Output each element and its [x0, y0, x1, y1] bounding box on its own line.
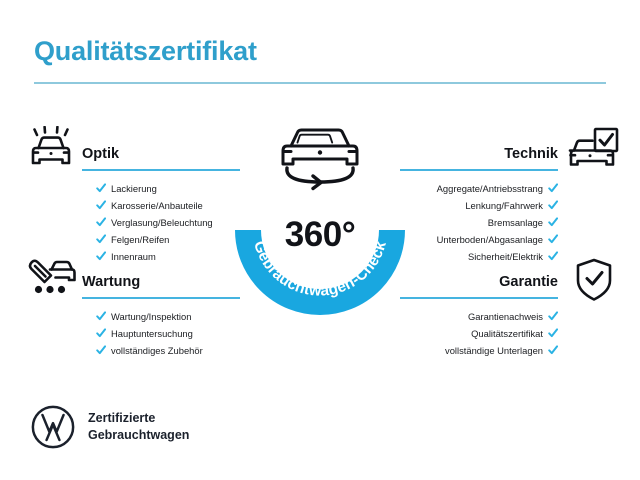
- list-item: vollständiges Zubehör: [96, 342, 254, 359]
- check-icon: [548, 234, 558, 244]
- check-icon: [96, 345, 106, 355]
- list-item-label: Sicherheit/Elektrik: [468, 252, 543, 261]
- list-item-label: Qualitätszertifikat: [471, 329, 543, 338]
- list-item: vollständige Unterlagen: [400, 342, 558, 359]
- footer-line-1: Zertifizierte: [88, 410, 189, 427]
- shield-check-icon: [570, 256, 618, 304]
- section-technik: Technik Aggregate/Antriebsstrang Lenkung…: [400, 136, 558, 166]
- list-item-label: Lackierung: [111, 184, 157, 193]
- check-icon: [96, 251, 106, 261]
- check-icon: [96, 183, 106, 193]
- wrench-car-icon: [24, 256, 78, 304]
- list-item-label: Bremsanlage: [488, 218, 543, 227]
- section-technik-title: Technik: [504, 146, 558, 162]
- section-garantie-title: Garantie: [499, 274, 558, 290]
- section-garantie-list: Garantienachweis Qualitätszertifikat vol…: [400, 308, 558, 359]
- list-item-label: vollständige Unterlagen: [445, 346, 543, 355]
- list-item-label: Unterboden/Abgasanlage: [437, 235, 543, 244]
- section-technik-header: Technik: [400, 136, 558, 166]
- list-item: Aggregate/Antriebsstrang: [400, 180, 558, 197]
- check-icon: [548, 217, 558, 227]
- list-item-label: Innenraum: [111, 252, 156, 261]
- footer-line-2: Gebrauchtwagen: [88, 427, 189, 444]
- check-icon: [548, 200, 558, 210]
- list-item: Sicherheit/Elektrik: [400, 248, 558, 265]
- volkswagen-logo: [30, 404, 76, 450]
- section-wartung-header: Wartung: [82, 264, 240, 294]
- list-item-label: Aggregate/Antriebsstrang: [437, 184, 543, 193]
- section-garantie-divider: [400, 297, 558, 299]
- list-item: Unterboden/Abgasanlage: [400, 231, 558, 248]
- title-divider: [34, 82, 606, 84]
- section-optik: Optik Lackierung Karosserie/Anbauteile V…: [82, 136, 240, 166]
- section-technik-divider: [400, 169, 558, 171]
- list-item-label: Hauptuntersuchung: [111, 329, 193, 338]
- section-optik-title: Optik: [82, 146, 119, 162]
- section-garantie: Garantie Garantienachweis Qualitätszerti…: [400, 264, 558, 294]
- check-icon: [96, 328, 106, 338]
- footer-text: Zertifizierte Gebrauchtwagen: [88, 410, 189, 444]
- list-item-label: Lenkung/Fahrwerk: [465, 201, 543, 210]
- section-wartung-divider: [82, 297, 240, 299]
- footer-branding: Zertifizierte Gebrauchtwagen: [30, 404, 189, 450]
- section-wartung-title: Wartung: [82, 274, 140, 290]
- section-optik-divider: [82, 169, 240, 171]
- check-icon: [96, 200, 106, 210]
- badge-number: 360°: [225, 215, 415, 255]
- list-item-label: Felgen/Reifen: [111, 235, 169, 244]
- car-checkbox-icon: [566, 126, 620, 174]
- list-item-label: Wartung/Inspektion: [111, 312, 191, 321]
- list-item-label: Verglasung/Beleuchtung: [111, 218, 213, 227]
- check-icon: [548, 311, 558, 321]
- list-item: Garantienachweis: [400, 308, 558, 325]
- check-icon: [96, 217, 106, 227]
- check-icon: [548, 345, 558, 355]
- page-title: Qualitätszertifikat: [34, 36, 257, 67]
- 360-check-badge: Gebrauchtwagen-Check 360°: [225, 118, 415, 318]
- check-icon: [548, 251, 558, 261]
- list-item-label: vollständiges Zubehör: [111, 346, 203, 355]
- list-item: Qualitätszertifikat: [400, 325, 558, 342]
- check-icon: [548, 328, 558, 338]
- section-garantie-header: Garantie: [400, 264, 558, 294]
- list-item: Bremsanlage: [400, 214, 558, 231]
- check-icon: [96, 311, 106, 321]
- section-optik-header: Optik: [82, 136, 240, 166]
- list-item-label: Karosserie/Anbauteile: [111, 201, 203, 210]
- check-icon: [548, 183, 558, 193]
- check-icon: [96, 234, 106, 244]
- list-item: Hauptuntersuchung: [96, 325, 254, 342]
- section-technik-list: Aggregate/Antriebsstrang Lenkung/Fahrwer…: [400, 180, 558, 265]
- certificate-page: Qualitätszertifikat Optik Lackierung Kar…: [0, 0, 640, 480]
- list-item-label: Garantienachweis: [468, 312, 543, 321]
- car-shine-icon: [24, 126, 78, 174]
- list-item: Lenkung/Fahrwerk: [400, 197, 558, 214]
- section-wartung: Wartung Wartung/Inspektion Hauptuntersuc…: [82, 264, 240, 294]
